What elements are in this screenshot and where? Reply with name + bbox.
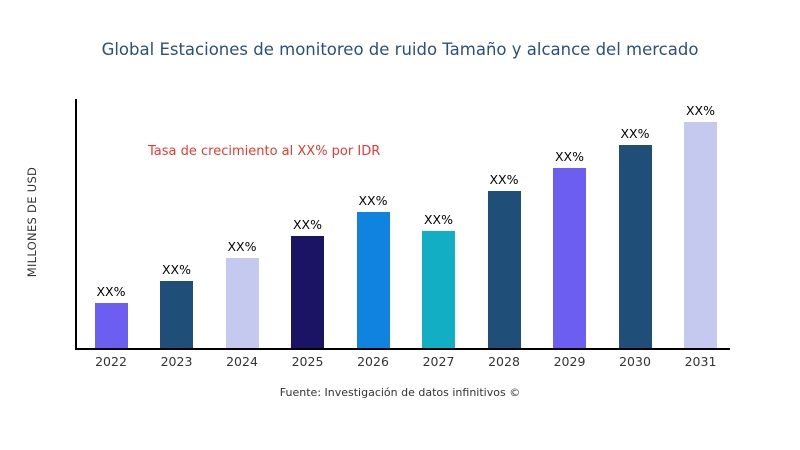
bar-2023[interactable] — [160, 281, 193, 348]
x-tick-2023: 2023 — [142, 354, 212, 369]
bar-2027[interactable] — [422, 231, 455, 348]
source-note: Fuente: Investigación de datos infinitiv… — [0, 386, 800, 399]
chart-title: Global Estaciones de monitoreo de ruido … — [0, 40, 800, 59]
bar-value-label-2023: XX% — [146, 262, 207, 277]
bar-2031[interactable] — [684, 122, 717, 348]
bar-group-2027: XX% — [422, 99, 455, 348]
bar-2025[interactable] — [291, 236, 324, 348]
x-tick-2031: 2031 — [666, 354, 736, 369]
x-tick-2029: 2029 — [535, 354, 605, 369]
x-tick-2027: 2027 — [404, 354, 474, 369]
x-axis-line — [75, 348, 730, 350]
bar-group-2025: XX% — [291, 99, 324, 348]
bar-value-label-2025: XX% — [277, 217, 338, 232]
bar-value-label-2030: XX% — [605, 126, 666, 141]
bar-2022[interactable] — [95, 303, 128, 348]
x-tick-2030: 2030 — [600, 354, 670, 369]
bar-2030[interactable] — [619, 145, 652, 348]
chart-figure: Global Estaciones de monitoreo de ruido … — [0, 0, 800, 450]
bar-value-label-2026: XX% — [343, 193, 404, 208]
bar-value-label-2028: XX% — [474, 172, 535, 187]
x-tick-2025: 2025 — [273, 354, 343, 369]
bar-group-2029: XX% — [553, 99, 586, 348]
bar-value-label-2022: XX% — [81, 284, 142, 299]
bar-2029[interactable] — [553, 168, 586, 348]
bar-group-2022: XX% — [95, 99, 128, 348]
bar-group-2030: XX% — [619, 99, 652, 348]
bar-group-2026: XX% — [357, 99, 390, 348]
bar-value-label-2031: XX% — [670, 103, 731, 118]
y-axis-label: MILLONES DE USD — [25, 107, 39, 337]
bar-group-2031: XX% — [684, 99, 717, 348]
bar-value-label-2024: XX% — [212, 239, 273, 254]
bar-2028[interactable] — [488, 191, 521, 348]
bar-value-label-2029: XX% — [539, 149, 600, 164]
plot-area: XX%XX%XX%XX%XX%XX%XX%XX%XX%XX% 202220232… — [75, 99, 730, 348]
x-tick-2024: 2024 — [207, 354, 277, 369]
x-tick-2028: 2028 — [469, 354, 539, 369]
x-tick-2022: 2022 — [76, 354, 146, 369]
bar-group-2023: XX% — [160, 99, 193, 348]
bar-group-2028: XX% — [488, 99, 521, 348]
y-axis-line — [75, 99, 77, 348]
growth-rate-annotation: Tasa de crecimiento al XX% por IDR — [148, 144, 380, 159]
bar-2026[interactable] — [357, 212, 390, 348]
bar-value-label-2027: XX% — [408, 212, 469, 227]
x-tick-2026: 2026 — [338, 354, 408, 369]
bar-2024[interactable] — [226, 258, 259, 348]
bar-group-2024: XX% — [226, 99, 259, 348]
